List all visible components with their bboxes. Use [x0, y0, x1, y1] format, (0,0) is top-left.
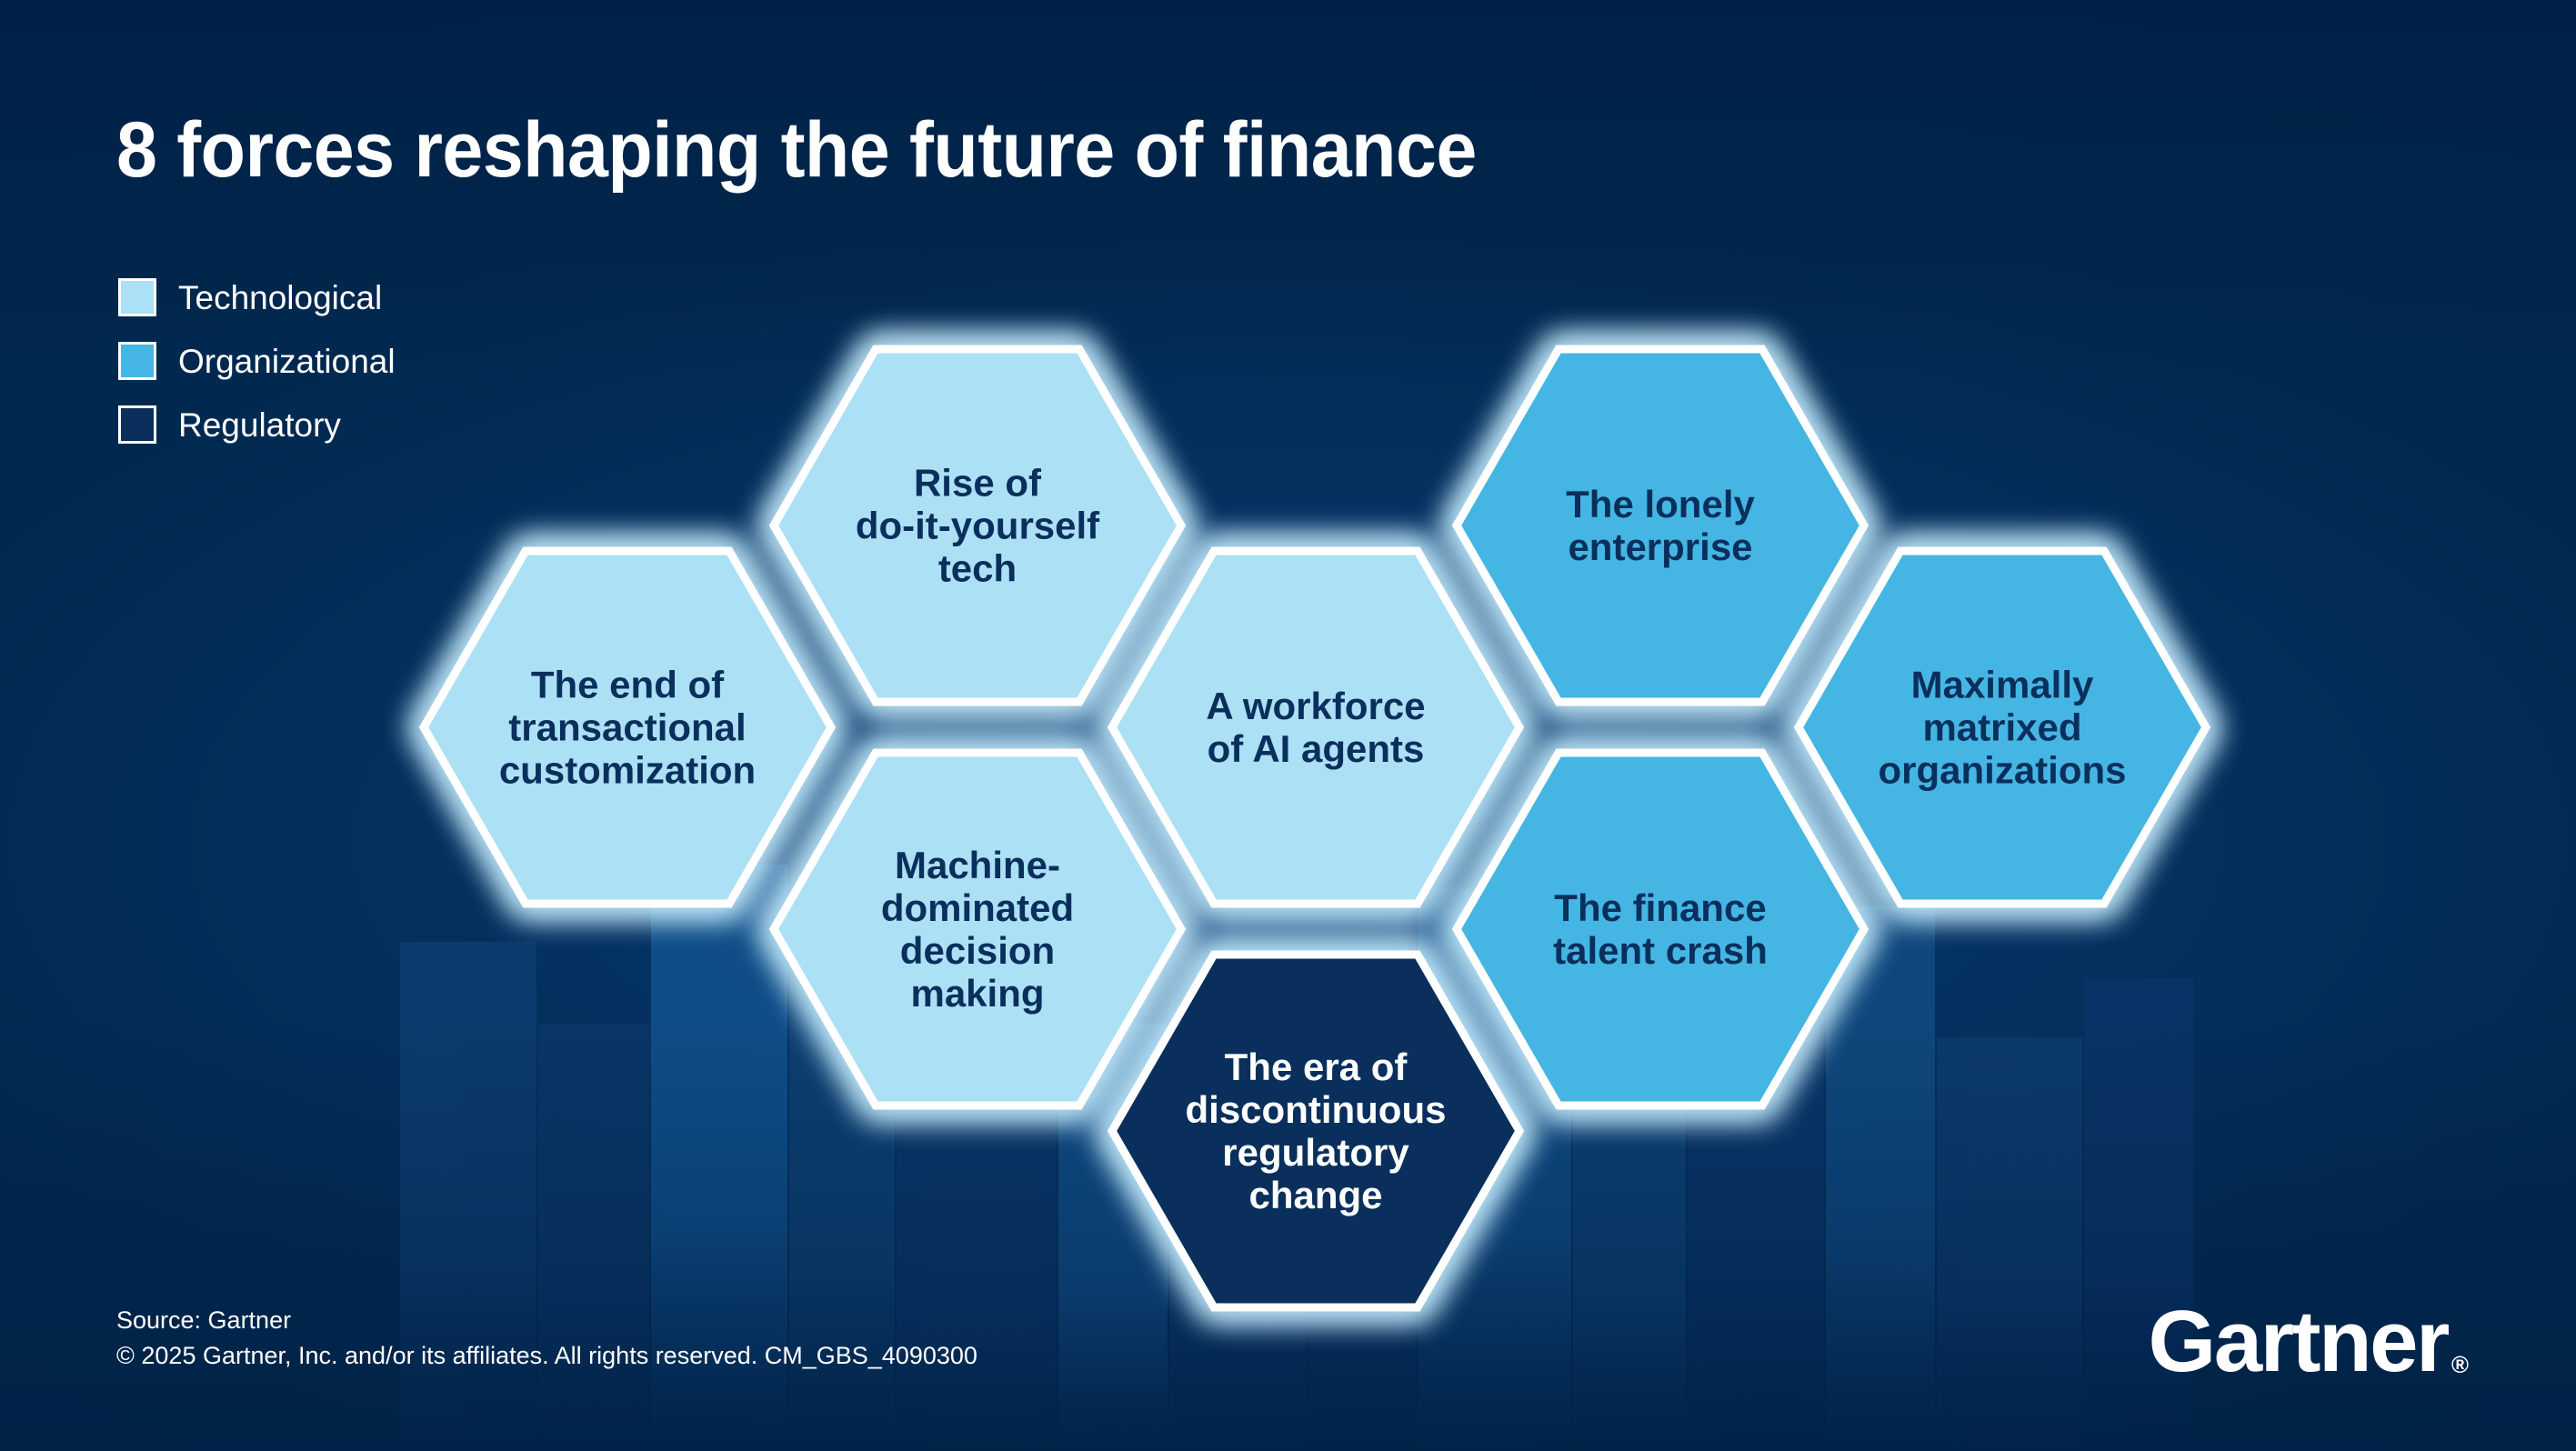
footer: Source: Gartner © 2025 Gartner, Inc. and…: [116, 1303, 977, 1373]
hexagon-svg: [0, 0, 2576, 1451]
footer-source: Source: Gartner: [116, 1303, 977, 1337]
hexagon-shapes-layer: [424, 349, 2206, 1307]
gartner-logo: Gartner ®: [2149, 1298, 2469, 1386]
gartner-wordmark: Gartner: [2149, 1298, 2448, 1386]
registered-trademark-icon: ®: [2451, 1353, 2469, 1376]
hexagon-cluster: The end of transactional customizationRi…: [0, 0, 2576, 1451]
footer-copyright: © 2025 Gartner, Inc. and/or its affiliat…: [116, 1338, 977, 1373]
infographic-canvas: 8 forces reshaping the future of finance…: [0, 0, 2576, 1451]
